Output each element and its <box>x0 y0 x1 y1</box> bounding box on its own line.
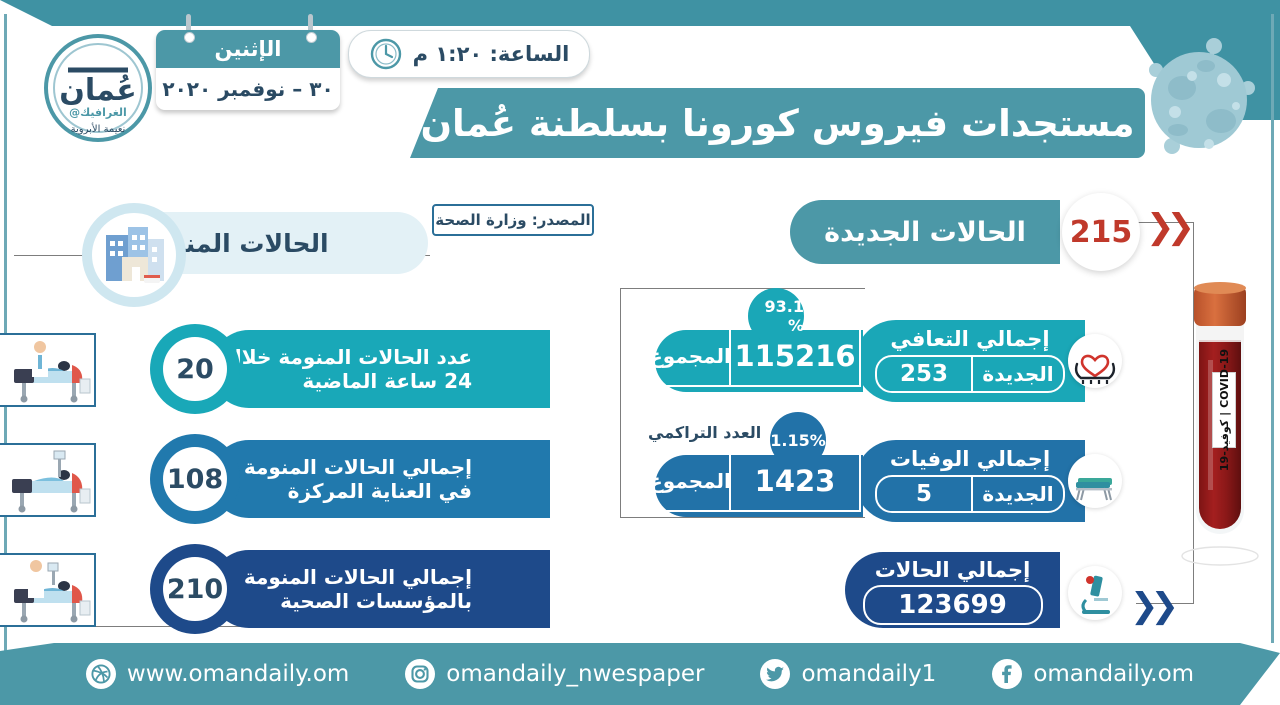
page-title-text: مستجدات فيروس كورونا بسلطنة عُمان <box>420 102 1134 145</box>
time-pill: الساعة: ١:٢٠ م <box>348 30 590 78</box>
test-tube-label-en: COVID-19 <box>1218 349 1231 408</box>
footer-item-facebook[interactable]: omandaily.om <box>992 659 1194 689</box>
deaths-title: إجمالي الوفيات <box>855 440 1085 471</box>
recovery-new-value: 253 <box>877 357 971 391</box>
total-cases-title: إجمالي الحالات <box>845 552 1060 582</box>
oman-daily-logo: عُمان الغرافيك@ نعيمة الأبروية <box>38 30 158 155</box>
hospitalized-row-3-circle: 210 <box>150 544 240 634</box>
hospitalized-row-2-circle: 108 <box>150 434 240 524</box>
hospital-badge <box>82 203 186 307</box>
footer-website-text: www.omandaily.om <box>127 661 349 687</box>
double-chevron-left-icon-top: ❮❮ <box>1146 207 1187 247</box>
deaths-new-label: الجديدة <box>973 477 1063 511</box>
footer-item-website[interactable]: www.omandaily.om <box>86 659 349 689</box>
deaths-new-value: 5 <box>877 477 971 511</box>
hospitalized-row-2: إجمالي الحالات المنومة في العناية المركز… <box>100 440 550 518</box>
hospitalized-row-3-bar: إجمالي الحالات المنومة بالمؤسسات الصحية <box>210 550 550 628</box>
hospitalized-row-3-label: إجمالي الحالات المنومة بالمؤسسات الصحية <box>220 565 472 614</box>
svg-text:عُمان: عُمان <box>59 73 136 108</box>
clock-icon <box>369 37 403 71</box>
hospitalized-row-1-label: عدد الحالات المنومة خلال 24 ساعة الماضية <box>220 345 472 394</box>
hospital-icon <box>92 213 176 297</box>
recovery-new-label: الجديدة <box>973 357 1063 391</box>
hospitalized-row-2-bar: إجمالي الحالات المنومة في العناية المركز… <box>210 440 550 518</box>
source-label: المصدر: وزارة الصحة <box>435 211 590 229</box>
recovery-percent: 93.1 % <box>748 288 804 344</box>
new-cases-label: الحالات الجديدة <box>824 217 1026 248</box>
date-text: ٣٠ – نوفمبر ٢٠٢٠ <box>156 68 340 110</box>
total-cases-card: إجمالي الحالات 123699 <box>845 552 1060 628</box>
heart-in-hands-icon <box>1068 334 1122 388</box>
cumulative-label: العدد التراكمي <box>648 423 761 442</box>
footer-facebook-text: omandaily.om <box>1033 661 1194 687</box>
calendar-pin-hole-right <box>306 32 317 43</box>
instagram-icon <box>405 659 435 689</box>
hospitalized-row-1-value: 20 <box>163 337 227 401</box>
facebook-icon <box>992 659 1022 689</box>
microscope-icon <box>1068 566 1122 620</box>
deaths-new-group: الجديدة 5 <box>875 475 1065 513</box>
top-teal-band <box>0 0 1280 26</box>
svg-text:نعيمة الأبروية: نعيمة الأبروية <box>71 122 126 135</box>
svg-text:الغرافيك@: الغرافيك@ <box>69 106 127 119</box>
divider <box>971 357 973 391</box>
deaths-percent: 1.15% <box>770 412 826 468</box>
deaths-card: إجمالي الوفيات الجديدة 5 <box>855 440 1085 522</box>
hospitalized-row-2-label: إجمالي الحالات المنومة في العناية المركز… <box>220 455 472 504</box>
twitter-icon <box>760 659 790 689</box>
calendar-pin-hole-left <box>184 32 195 43</box>
page-title: مستجدات فيروس كورونا بسلطنة عُمان <box>410 88 1145 158</box>
footer-bar: omandaily.om omandaily1 omandaily_nwespa… <box>0 643 1280 705</box>
footer-item-twitter[interactable]: omandaily1 <box>760 659 936 689</box>
double-chevron-left-icon-bottom: ❮❮ <box>1130 586 1171 626</box>
test-tube-label: COVID-19 | كوفيد-19 <box>1212 372 1236 448</box>
hospitalized-row-1: عدد الحالات المنومة خلال 24 ساعة الماضية… <box>100 330 550 408</box>
new-cases-bar: الحالات الجديدة <box>790 200 1060 264</box>
hospitalized-row-3: إجمالي الحالات المنومة بالمؤسسات الصحية … <box>100 550 550 628</box>
test-tube-label-ar: كوفيد-19 <box>1218 420 1231 471</box>
total-cases-value: 123699 <box>863 585 1043 625</box>
hospitalized-row-2-value: 108 <box>163 447 227 511</box>
dribbble-web-icon <box>86 659 116 689</box>
new-cases-value: 215 <box>1062 193 1140 271</box>
test-tube-label-sep: | <box>1218 412 1231 416</box>
infographic-canvas: عُمان الغرافيك@ نعيمة الأبروية الإثنين ٣… <box>0 0 1280 705</box>
footer-instagram-text: omandaily_nwespaper <box>446 661 704 687</box>
footer-twitter-text: omandaily1 <box>801 661 936 687</box>
recovery-title: إجمالي التعافي <box>855 320 1085 351</box>
divider <box>971 477 973 511</box>
deaths-total-group: 1423 المجموع <box>649 450 861 512</box>
icu-bed-icon <box>0 443 96 517</box>
coronavirus-icon <box>1126 18 1266 168</box>
stretcher-icon <box>1068 454 1122 508</box>
recovery-card: إجمالي التعافي الجديدة 253 <box>855 320 1085 402</box>
time-text: الساعة: ١:٢٠ م <box>413 42 570 66</box>
hospitalized-row-1-circle: 20 <box>150 324 240 414</box>
footer-item-instagram[interactable]: omandaily_nwespaper <box>405 659 704 689</box>
patient-bed-doctor-icon <box>0 333 96 407</box>
hospitalized-row-1-bar: عدد الحالات المنومة خلال 24 ساعة الماضية <box>210 330 550 408</box>
recovery-new-group: الجديدة 253 <box>875 355 1065 393</box>
hospitalized-row-3-value: 210 <box>163 557 227 621</box>
source-badge: المصدر: وزارة الصحة <box>432 204 594 236</box>
deaths-total-label: المجموع <box>651 452 729 510</box>
hospital-bed-nurse-icon <box>0 553 96 627</box>
recovery-total-label: المجموع <box>651 327 729 385</box>
